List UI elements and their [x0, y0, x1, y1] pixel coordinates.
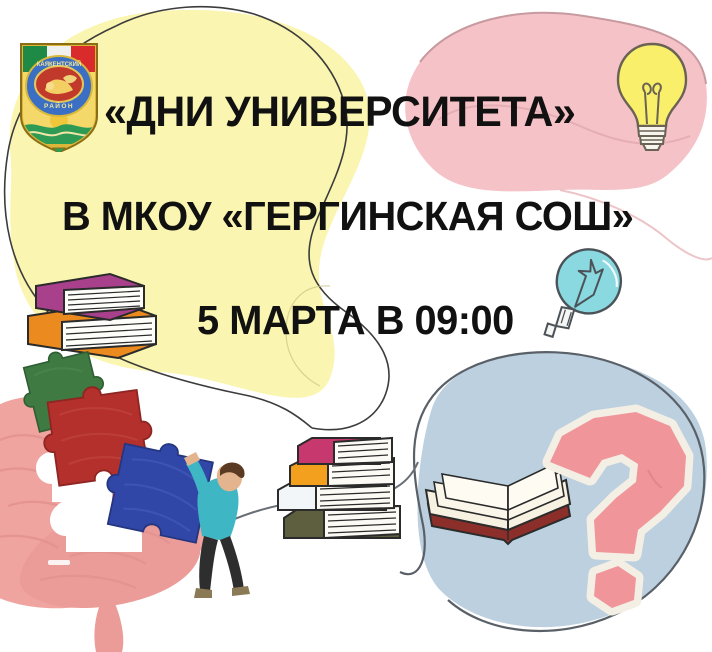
poster-title-line-1: «ДНИ УНИВЕРСИТЕТА»	[104, 88, 575, 137]
headline-text-layer: «ДНИ УНИВЕРСИТЕТА» В МКОУ «ГЕРГИНСКАЯ СО…	[0, 0, 712, 652]
poster-title-line-3: 5 МАРТА В 09:00	[197, 297, 514, 344]
poster-canvas: КАЯКЕНТСКИЙ РАЙОН	[0, 0, 712, 652]
poster-title-line-2: В МКОУ «ГЕРГИНСКАЯ СОШ»	[62, 193, 633, 240]
